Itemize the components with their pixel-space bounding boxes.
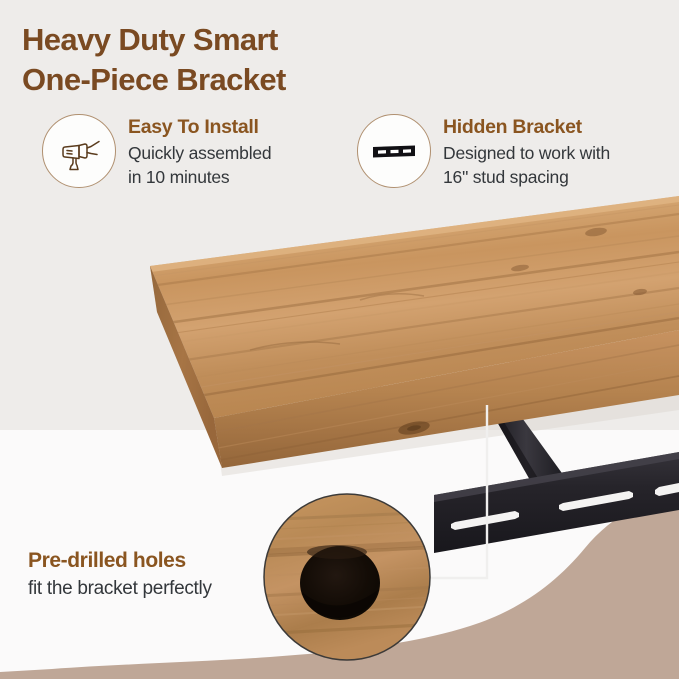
callout-subtitle: fit the bracket perfectly xyxy=(28,577,278,601)
title-line-2: One-Piece Bracket xyxy=(22,60,442,100)
feature-text-block: Hidden Bracket Designed to work with 16"… xyxy=(443,110,610,189)
feature-text-block: Easy To Install Quickly assembled in 10 … xyxy=(128,110,271,189)
feature-desc-line-2: in 10 minutes xyxy=(128,166,271,189)
callout-title: Pre-drilled holes xyxy=(28,548,278,573)
title-line-1: Heavy Duty Smart xyxy=(22,20,442,60)
wooden-floating-shelf xyxy=(150,196,679,468)
drill-icon xyxy=(42,114,116,188)
feature-description: Designed to work with 16" stud spacing xyxy=(443,142,610,189)
feature-desc-line-1: Designed to work with xyxy=(443,142,610,165)
feature-description: Quickly assembled in 10 minutes xyxy=(128,142,271,189)
feature-hidden-bracket: Hidden Bracket Designed to work with 16"… xyxy=(357,110,610,189)
feature-desc-line-2: 16" stud spacing xyxy=(443,166,610,189)
feature-easy-to-install: Easy To Install Quickly assembled in 10 … xyxy=(42,110,271,189)
product-marketing-image: Heavy Duty Smart One-Piece Bracket Easy … xyxy=(0,0,679,679)
bracket-bar-icon xyxy=(357,114,431,188)
feature-title: Easy To Install xyxy=(128,116,271,139)
feature-title: Hidden Bracket xyxy=(443,116,610,139)
magnified-pre-drilled-hole xyxy=(258,494,440,660)
callout-pre-drilled-holes: Pre-drilled holes fit the bracket perfec… xyxy=(28,548,278,601)
page-title: Heavy Duty Smart One-Piece Bracket xyxy=(22,20,442,100)
feature-desc-line-1: Quickly assembled xyxy=(128,142,271,165)
